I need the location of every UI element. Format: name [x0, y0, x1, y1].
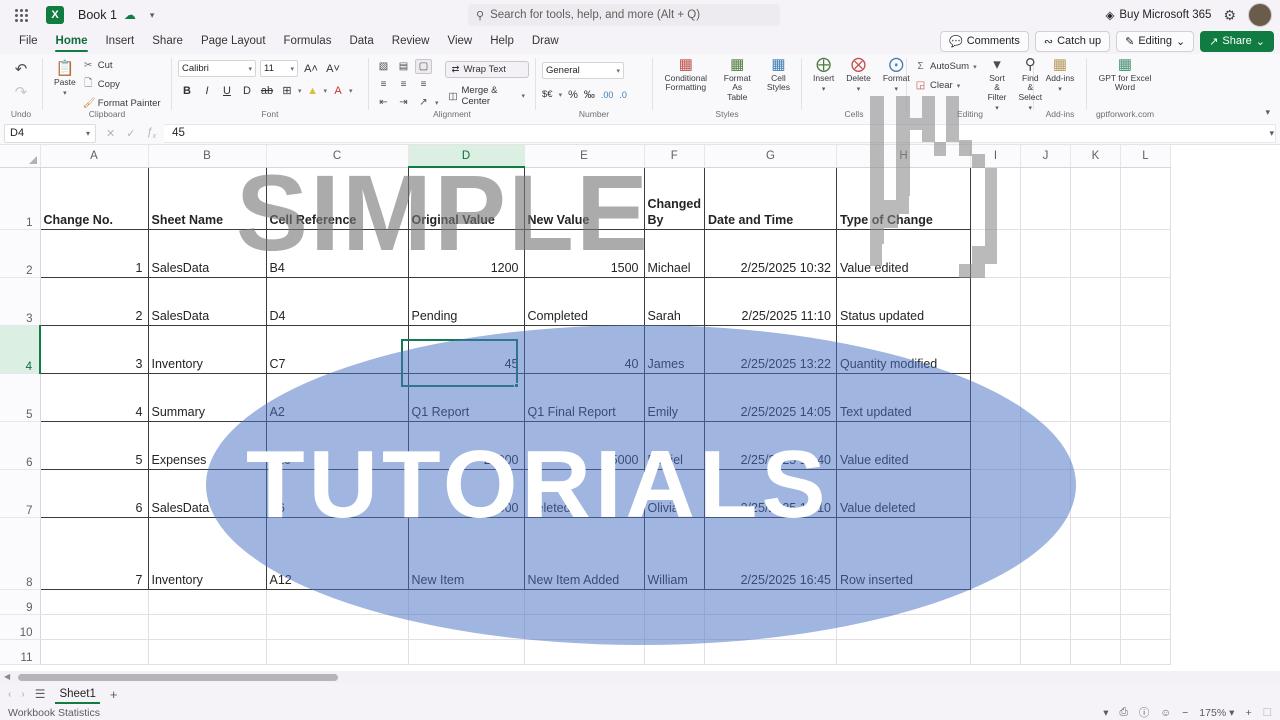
name-box[interactable]: D4 ▾ — [4, 124, 96, 143]
cell-I9[interactable] — [970, 589, 1020, 614]
grow-font-icon[interactable]: A˄ — [302, 60, 320, 77]
wrap-text-icon: ⇄ — [452, 64, 460, 75]
cell-G5[interactable]: 2/25/2025 14:05 — [704, 373, 836, 421]
cell-D5[interactable]: Q1 Report — [408, 373, 524, 421]
row-header-9[interactable]: 9 — [0, 589, 40, 614]
chevron-down-icon: ⌄ — [1176, 35, 1185, 48]
cell-E6[interactable]: 25000 — [524, 421, 644, 469]
paste-button[interactable]: 📋 Paste ▾ — [49, 58, 81, 100]
cell-B3[interactable]: SalesData — [148, 277, 266, 325]
gpt-excel-icon: ▦ — [1118, 57, 1132, 72]
column-header-H[interactable]: H — [836, 145, 970, 167]
cell-F4[interactable]: James — [644, 325, 704, 373]
cell-A3[interactable]: 2 — [40, 277, 148, 325]
delete-cells-button[interactable]: ⨂ Delete ▾ — [841, 54, 876, 96]
tab-home[interactable]: Home — [47, 33, 97, 49]
buy-microsoft-365-button[interactable]: ◈ Buy Microsoft 365 — [1106, 8, 1212, 22]
column-header-D[interactable]: D — [408, 145, 524, 167]
autosum-button[interactable]: Σ AutoSum ▾ — [913, 60, 979, 73]
cell-D3[interactable]: Pending — [408, 277, 524, 325]
align-center-button[interactable]: ≡ — [395, 77, 412, 92]
waffle-icon[interactable] — [8, 9, 34, 22]
cell-I11[interactable] — [970, 639, 1020, 664]
cell-A5[interactable]: 4 — [40, 373, 148, 421]
cell-H3[interactable]: Status updated — [836, 277, 970, 325]
cell-I6[interactable] — [970, 421, 1020, 469]
column-header-F[interactable]: F — [644, 145, 704, 167]
spreadsheet-grid[interactable]: A B C D E F G H I J K L 1 Change No. She… — [0, 145, 1280, 675]
cell-K1[interactable] — [1070, 167, 1120, 229]
cell-L10[interactable] — [1120, 614, 1170, 639]
sort-filter-button[interactable]: ▾ Sort & Filter ▾ — [983, 54, 1012, 115]
row-header-5[interactable]: 5 — [0, 373, 40, 421]
cell-D7[interactable]: 800 — [408, 469, 524, 517]
cell-I8[interactable] — [970, 517, 1020, 589]
cell-D8[interactable]: New Item — [408, 517, 524, 589]
cell-A7[interactable]: 6 — [40, 469, 148, 517]
cell-styles-icon: ▦ — [771, 57, 785, 72]
cell-H7[interactable]: Value deleted — [836, 469, 970, 517]
cell-K4[interactable] — [1070, 325, 1120, 373]
status-chevron-down-icon[interactable]: ▾ — [1103, 707, 1108, 719]
cell-L1[interactable] — [1120, 167, 1170, 229]
tab-share[interactable]: Share — [143, 33, 192, 49]
increase-decimal-button[interactable]: .00 — [601, 86, 614, 103]
expand-formula-bar-icon[interactable]: ▾ — [1269, 128, 1274, 139]
merge-center-button[interactable]: ◫ Merge & Center ▾ — [445, 83, 529, 109]
wrap-text-button[interactable]: ⇄ Wrap Text — [445, 61, 529, 78]
conditional-formatting-label: Conditional Formatting — [664, 74, 708, 93]
cell-styles-label: Cell Styles — [767, 74, 790, 93]
conditional-formatting-button[interactable]: ▦ Conditional Formatting — [659, 54, 713, 96]
chevron-down-icon[interactable]: ▾ — [822, 85, 826, 93]
cell-D9[interactable] — [408, 589, 524, 614]
ribbon-group-gpt: ▦ GPT for Excel Word gptforwork.com — [1087, 54, 1163, 120]
cell-F11[interactable] — [644, 639, 704, 664]
cell-E11[interactable] — [524, 639, 644, 664]
chevron-down-icon: ▾ — [290, 65, 294, 73]
table-row: 8 7 Inventory A12 New Item New Item Adde… — [0, 517, 1170, 589]
decrease-indent-button[interactable]: ⇤ — [375, 95, 392, 110]
cell-styles-button[interactable]: ▦ Cell Styles — [762, 54, 795, 96]
font-name-value: Calibri — [182, 63, 209, 74]
column-header-E[interactable]: E — [524, 145, 644, 167]
chevron-down-icon[interactable]: ▾ — [1058, 85, 1062, 93]
align-right-button[interactable]: ≡ — [415, 77, 432, 92]
undo-icon[interactable]: ↶ — [15, 62, 28, 77]
accessibility-icon[interactable]: ☺ — [1160, 707, 1171, 719]
cell-B8[interactable]: Inventory — [148, 517, 266, 589]
cell-A9[interactable] — [40, 589, 148, 614]
row-header-10[interactable]: 10 — [0, 614, 40, 639]
cell-I1[interactable] — [970, 167, 1020, 229]
sheet-table: A B C D E F G H I J K L 1 Change No. She… — [0, 145, 1171, 665]
column-header-I[interactable]: I — [970, 145, 1020, 167]
cell-H1[interactable]: Type of Change — [836, 167, 970, 229]
cell-A4[interactable]: 3 — [40, 325, 148, 373]
ribbon-group-label: Editing — [907, 109, 1033, 119]
cell-E8[interactable]: New Item Added — [524, 517, 644, 589]
cell-L11[interactable] — [1120, 639, 1170, 664]
chevron-down-icon[interactable]: ▾ — [857, 85, 861, 93]
document-title[interactable]: Book 1 — [78, 8, 117, 22]
row-header-8[interactable]: 8 — [0, 517, 40, 589]
tab-page-layout[interactable]: Page Layout — [192, 33, 275, 49]
cell-E5[interactable]: Q1 Final Report — [524, 373, 644, 421]
zoom-in-button[interactable]: + — [1245, 707, 1251, 719]
gear-icon[interactable]: ⚙ — [1223, 7, 1236, 24]
cell-E1[interactable]: New Value — [524, 167, 644, 229]
share-button[interactable]: ↗ Share ⌄ — [1200, 31, 1274, 52]
column-header-B[interactable]: B — [148, 145, 266, 167]
cell-C9[interactable] — [266, 589, 408, 614]
cell-C4[interactable]: C7 — [266, 325, 408, 373]
select-all-corner[interactable] — [0, 145, 40, 167]
share-icon: ↗ — [1209, 35, 1218, 48]
tab-data[interactable]: Data — [340, 33, 382, 49]
chevron-down-icon[interactable]: ▾ — [559, 91, 563, 99]
row-header-7[interactable]: 7 — [0, 469, 40, 517]
row-header-3[interactable]: 3 — [0, 277, 40, 325]
cell-B5[interactable]: Summary — [148, 373, 266, 421]
highlight-color-icon[interactable]: ▲ — [304, 82, 322, 99]
cell-F2[interactable]: Michael — [644, 229, 704, 277]
add-sheet-button[interactable]: + — [110, 687, 118, 702]
cell-I7[interactable] — [970, 469, 1020, 517]
cell-F10[interactable] — [644, 614, 704, 639]
font-size-select[interactable]: 11 ▾ — [260, 60, 298, 77]
cell-J7[interactable] — [1020, 469, 1070, 517]
insert-label: Insert — [813, 74, 834, 83]
cell-A6[interactable]: 5 — [40, 421, 148, 469]
search-input[interactable]: ⚲ Search for tools, help, and more (Alt … — [468, 4, 780, 26]
comma-button[interactable]: ‰ — [584, 86, 595, 103]
cell-B10[interactable] — [148, 614, 266, 639]
sheet-tab-sheet1[interactable]: Sheet1 — [55, 686, 99, 702]
cell-C1[interactable]: Cell Reference — [266, 167, 408, 229]
cell-K7[interactable] — [1070, 469, 1120, 517]
column-header-L[interactable]: L — [1120, 145, 1170, 167]
ribbon-group-label: Clipboard — [43, 109, 171, 119]
tab-file[interactable]: File — [10, 33, 47, 49]
table-row: 11 — [0, 639, 1170, 664]
cell-G1[interactable]: Date and Time — [704, 167, 836, 229]
search-icon: ⚲ — [476, 9, 484, 22]
cell-D11[interactable] — [408, 639, 524, 664]
sheet-list-icon[interactable]: ☰ — [35, 687, 46, 701]
catchup-icon: ∾ — [1044, 35, 1053, 48]
cell-B4[interactable]: Inventory — [148, 325, 266, 373]
cell-J6[interactable] — [1020, 421, 1070, 469]
chevron-down-icon: ▾ — [616, 67, 620, 75]
align-bottom-button[interactable]: ▢ — [415, 59, 432, 74]
format-as-table-label: Format As Table — [722, 74, 753, 102]
prev-sheet-icon[interactable]: ‹ — [8, 689, 11, 700]
ribbon-group-font: Calibri ▾ 11 ▾ A˄ A˅ B I U D ab ⊞ ▾ ▲ ▾ — [172, 54, 368, 120]
cell-I5[interactable] — [970, 373, 1020, 421]
column-header-J[interactable]: J — [1020, 145, 1070, 167]
fit-icon[interactable]: ☐ — [1263, 707, 1272, 719]
cell-L8[interactable] — [1120, 517, 1170, 589]
cell-L7[interactable] — [1120, 469, 1170, 517]
ribbon-group-number: General ▾ $€ ▾ % ‰ .00 .0 Number — [536, 54, 652, 120]
chevron-down-icon: ▾ — [1229, 707, 1234, 719]
chevron-down-icon[interactable]: ▾ — [349, 87, 353, 95]
cell-C2[interactable]: B4 — [266, 229, 408, 277]
cell-L4[interactable] — [1120, 325, 1170, 373]
redo-icon[interactable]: ↷ — [15, 85, 28, 100]
zoom-level[interactable]: 175% ▾ — [1199, 707, 1234, 719]
tab-insert[interactable]: Insert — [96, 33, 143, 49]
cell-J5[interactable] — [1020, 373, 1070, 421]
format-as-table-button[interactable]: ▦ Format As Table — [717, 54, 758, 105]
cell-C10[interactable] — [266, 614, 408, 639]
ribbon-group-label: Undo — [0, 109, 42, 119]
scroll-left-icon[interactable]: ◀ — [4, 672, 10, 681]
cell-K2[interactable] — [1070, 229, 1120, 277]
editing-button[interactable]: ✎ Editing ⌄ — [1116, 31, 1194, 52]
workbook-statistics-label[interactable]: Workbook Statistics — [8, 707, 100, 719]
cell-E4[interactable]: 40 — [524, 325, 644, 373]
cell-F3[interactable]: Sarah — [644, 277, 704, 325]
sort-filter-label: Sort & Filter — [988, 74, 1007, 102]
column-header-G[interactable]: G — [704, 145, 836, 167]
borders-icon[interactable]: ⊞ — [278, 82, 296, 99]
align-left-button[interactable]: ≡ — [375, 77, 392, 92]
merge-center-label: Merge & Center — [462, 85, 518, 107]
row-header-4[interactable]: 4 — [0, 325, 40, 373]
cancel-icon[interactable]: ✕ — [106, 127, 115, 140]
cell-E7[interactable]: Deleted — [524, 469, 644, 517]
tab-draw[interactable]: Draw — [523, 33, 568, 49]
avatar[interactable] — [1248, 3, 1272, 27]
horizontal-scrollbar[interactable]: ◀ — [0, 671, 1280, 683]
clear-button[interactable]: ◲ Clear ▾ — [913, 79, 979, 92]
number-format-select[interactable]: General ▾ — [542, 62, 624, 79]
cell-D6[interactable]: 23000 — [408, 421, 524, 469]
cell-B6[interactable]: Expenses — [148, 421, 266, 469]
align-top-button[interactable]: ▧ — [375, 59, 392, 74]
cell-G10[interactable] — [704, 614, 836, 639]
cell-F1[interactable]: Changed By — [644, 167, 704, 229]
cell-J1[interactable] — [1020, 167, 1070, 229]
cell-C6[interactable]: F10 — [266, 421, 408, 469]
cell-F5[interactable]: Emily — [644, 373, 704, 421]
cell-E3[interactable]: Completed — [524, 277, 644, 325]
cell-E2[interactable]: 1500 — [524, 229, 644, 277]
increase-indent-button[interactable]: ⇥ — [395, 95, 412, 110]
zoom-value: 175% — [1199, 707, 1226, 719]
strikethrough-button[interactable]: ab — [258, 82, 276, 99]
cell-D1[interactable]: Original Value — [408, 167, 524, 229]
cell-J2[interactable] — [1020, 229, 1070, 277]
italic-button[interactable]: I — [198, 82, 216, 99]
fx-icon[interactable]: ƒx — [146, 126, 156, 140]
cell-G11[interactable] — [704, 639, 836, 664]
cell-L2[interactable] — [1120, 229, 1170, 277]
formula-input[interactable]: 45 — [164, 124, 1276, 143]
cell-I10[interactable] — [970, 614, 1020, 639]
cell-J10[interactable] — [1020, 614, 1070, 639]
cell-J11[interactable] — [1020, 639, 1070, 664]
cell-C8[interactable]: A12 — [266, 517, 408, 589]
cell-C11[interactable] — [266, 639, 408, 664]
chevron-down-icon[interactable]: ▾ — [324, 87, 328, 95]
chevron-down-icon: ▾ — [973, 63, 977, 71]
cell-G3[interactable]: 2/25/2025 11:10 — [704, 277, 836, 325]
cell-B11[interactable] — [148, 639, 266, 664]
cell-F6[interactable]: Daniel — [644, 421, 704, 469]
cut-button[interactable]: ✂ Cut — [81, 59, 163, 72]
cell-D4[interactable]: 45 — [408, 325, 524, 373]
cell-K11[interactable] — [1070, 639, 1120, 664]
cell-C5[interactable]: A2 — [266, 373, 408, 421]
chevron-down-icon[interactable]: ▾ — [298, 87, 302, 95]
addins-button[interactable]: ▦ Add-ins ▾ — [1041, 54, 1080, 96]
cell-J9[interactable] — [1020, 589, 1070, 614]
catch-up-button[interactable]: ∾ Catch up — [1035, 31, 1110, 52]
cell-K9[interactable] — [1070, 589, 1120, 614]
cell-F8[interactable]: William — [644, 517, 704, 589]
buy-365-label: Buy Microsoft 365 — [1119, 9, 1211, 21]
chevron-down-icon: ▾ — [248, 65, 252, 73]
cell-A2[interactable]: 1 — [40, 229, 148, 277]
cell-L9[interactable] — [1120, 589, 1170, 614]
cell-L5[interactable] — [1120, 373, 1170, 421]
cell-H11[interactable] — [836, 639, 970, 664]
decrease-decimal-button[interactable]: .0 — [619, 86, 627, 103]
tab-review[interactable]: Review — [383, 33, 439, 49]
zoom-out-button[interactable]: − — [1182, 707, 1188, 719]
cell-H9[interactable] — [836, 589, 970, 614]
font-color-icon[interactable]: A — [329, 82, 347, 99]
cell-A10[interactable] — [40, 614, 148, 639]
conditional-formatting-icon: ▦ — [679, 57, 693, 72]
scrollbar-thumb[interactable] — [18, 674, 338, 681]
cell-E9[interactable] — [524, 589, 644, 614]
catch-up-label: Catch up — [1057, 35, 1101, 47]
title-bar: Book 1 ☁ ▾ ⚲ Search for tools, help, and… — [0, 0, 1280, 30]
row-header-11[interactable]: 11 — [0, 639, 40, 664]
autosum-label: AutoSum — [930, 61, 969, 72]
chevron-down-icon[interactable]: ▾ — [435, 99, 439, 107]
cell-L6[interactable] — [1120, 421, 1170, 469]
insert-cells-button[interactable]: ⨁ Insert ▾ — [808, 54, 839, 96]
format-painter-label: Format Painter — [98, 98, 161, 109]
font-name-select[interactable]: Calibri ▾ — [178, 60, 256, 77]
copy-button[interactable]: 🗋 Copy — [81, 75, 163, 94]
cell-G8[interactable]: 2/25/2025 16:45 — [704, 517, 836, 589]
tab-formulas[interactable]: Formulas — [275, 33, 341, 49]
row-header-2[interactable]: 2 — [0, 229, 40, 277]
help-icon[interactable]: ⓘ — [1139, 705, 1150, 720]
cell-B2[interactable]: SalesData — [148, 229, 266, 277]
cell-H5[interactable]: Text updated — [836, 373, 970, 421]
cell-A8[interactable]: 7 — [40, 517, 148, 589]
chevron-down-icon[interactable]: ▾ — [895, 85, 899, 93]
column-header-A[interactable]: A — [40, 145, 148, 167]
percent-button[interactable]: % — [568, 86, 578, 103]
next-sheet-icon[interactable]: › — [21, 689, 24, 700]
cell-G4[interactable]: 2/25/2025 13:22 — [704, 325, 836, 373]
tab-view[interactable]: View — [438, 33, 481, 49]
cell-D2[interactable]: 1200 — [408, 229, 524, 277]
cell-D10[interactable] — [408, 614, 524, 639]
align-middle-button[interactable]: ▤ — [395, 59, 412, 74]
cell-J4[interactable] — [1020, 325, 1070, 373]
cell-C3[interactable]: D4 — [266, 277, 408, 325]
underline-button[interactable]: U — [218, 82, 236, 99]
cell-B7[interactable]: SalesData — [148, 469, 266, 517]
pencil-icon: ✎ — [1125, 35, 1134, 48]
cell-J3[interactable] — [1020, 277, 1070, 325]
cell-B9[interactable] — [148, 589, 266, 614]
cell-K5[interactable] — [1070, 373, 1120, 421]
cell-I3[interactable] — [970, 277, 1020, 325]
cell-K8[interactable] — [1070, 517, 1120, 589]
cell-H4[interactable]: Quantity modified — [836, 325, 970, 373]
cell-A11[interactable] — [40, 639, 148, 664]
cell-F7[interactable]: Olivia — [644, 469, 704, 517]
column-header-K[interactable]: K — [1070, 145, 1120, 167]
bold-button[interactable]: B — [178, 82, 196, 99]
shrink-font-icon[interactable]: A˅ — [324, 60, 342, 77]
cell-G9[interactable] — [704, 589, 836, 614]
chevron-down-icon[interactable]: ▾ — [63, 89, 67, 97]
tab-help[interactable]: Help — [481, 33, 523, 49]
cell-E10[interactable] — [524, 614, 644, 639]
cell-B1[interactable]: Sheet Name — [148, 167, 266, 229]
double-underline-button[interactable]: D — [238, 82, 256, 99]
share-label: Share — [1222, 35, 1251, 47]
title-chevron-down-icon[interactable]: ▾ — [150, 10, 155, 21]
cell-K10[interactable] — [1070, 614, 1120, 639]
cell-H2[interactable]: Value edited — [836, 229, 970, 277]
column-header-C[interactable]: C — [266, 145, 408, 167]
ribbon-group-clipboard: 📋 Paste ▾ ✂ Cut 🗋 Copy 🖌 Format Painter — [43, 54, 171, 120]
cell-L3[interactable] — [1120, 277, 1170, 325]
cell-G7[interactable]: 2/25/2025 16:10 — [704, 469, 836, 517]
cell-I2[interactable] — [970, 229, 1020, 277]
ribbon-group-label: Styles — [653, 109, 801, 119]
cell-K6[interactable] — [1070, 421, 1120, 469]
cell-F9[interactable] — [644, 589, 704, 614]
collapse-ribbon-icon[interactable]: ▾ — [1265, 107, 1270, 118]
orientation-button[interactable]: ↗ — [415, 95, 432, 110]
display-settings-icon[interactable]: ⎙ — [1120, 706, 1128, 719]
cell-H6[interactable]: Value edited — [836, 421, 970, 469]
table-row: 10 — [0, 614, 1170, 639]
currency-button[interactable]: $€ — [542, 86, 553, 103]
cell-H8[interactable]: Row inserted — [836, 517, 970, 589]
cell-I4[interactable] — [970, 325, 1020, 373]
comments-button[interactable]: 💬 Comments — [940, 31, 1029, 52]
cell-C7[interactable]: B6 — [266, 469, 408, 517]
table-row: 5 4 Summary A2 Q1 Report Q1 Final Report… — [0, 373, 1170, 421]
cell-G6[interactable]: 2/25/2025 15:40 — [704, 421, 836, 469]
cell-G2[interactable]: 2/25/2025 10:32 — [704, 229, 836, 277]
cloud-saved-icon[interactable]: ☁ — [124, 8, 136, 22]
row-header-1[interactable]: 1 — [0, 167, 40, 229]
row-header-6[interactable]: 6 — [0, 421, 40, 469]
cell-J8[interactable] — [1020, 517, 1070, 589]
excel-logo-icon — [46, 6, 64, 24]
cell-A1[interactable]: Change No. — [40, 167, 148, 229]
cell-H10[interactable] — [836, 614, 970, 639]
confirm-icon[interactable]: ✓ — [126, 127, 135, 140]
cell-K3[interactable] — [1070, 277, 1120, 325]
gpt-excel-word-button[interactable]: ▦ GPT for Excel Word — [1093, 54, 1157, 96]
